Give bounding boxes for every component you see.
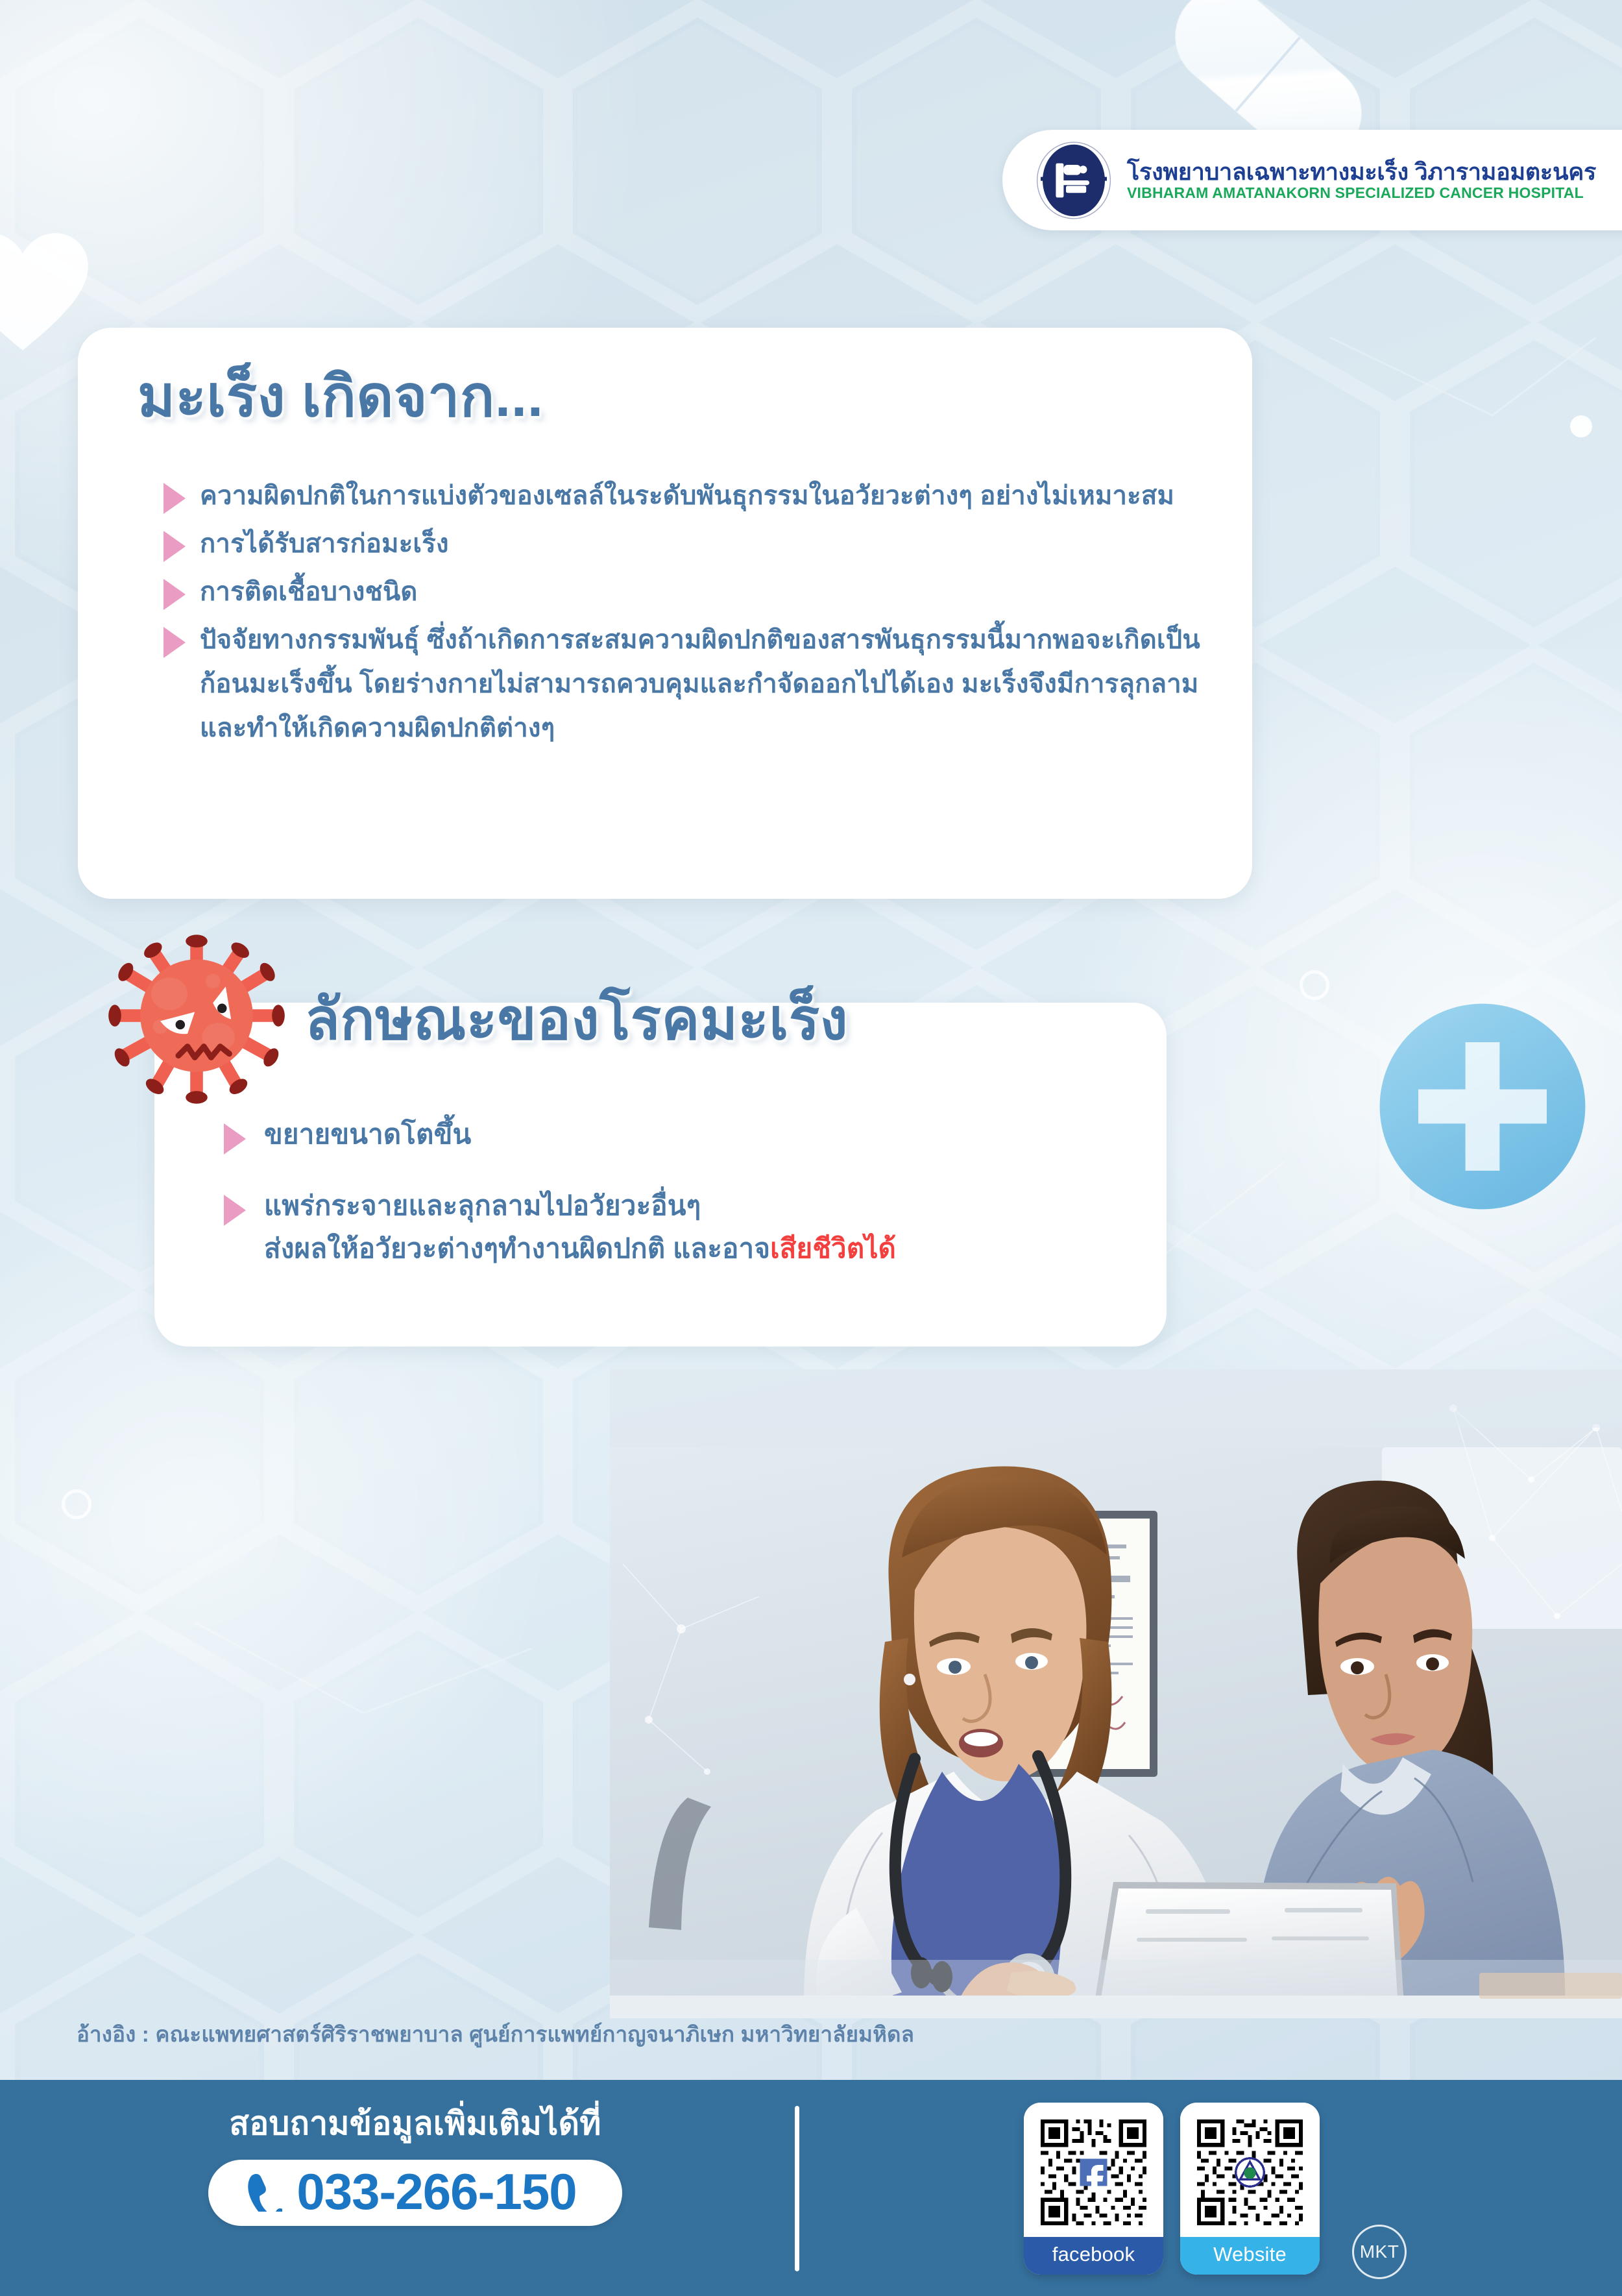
features-bullet-list: ขยายขนาดโตขึ้น แพร่กระจายและลุกลามไปอวัย… — [224, 1113, 1132, 1299]
bullet-text: การได้รับสารก่อมะเร็ง — [200, 522, 449, 566]
list-item: แพร่กระจายและลุกลามไปอวัยวะอื่นๆ ส่งผลให… — [224, 1184, 1132, 1270]
doctor-patient-photo — [610, 1369, 1622, 2018]
list-item: ความผิดปกติในการแบ่งตัวของเซลล์ในระดับพั… — [163, 474, 1228, 518]
triangle-bullet-icon — [163, 579, 186, 610]
phone-number: 033-266-150 — [297, 2166, 576, 2217]
list-item: ขยายขนาดโตขึ้น — [224, 1113, 1132, 1156]
bullet-text: การติดเชื้อบางชนิด — [200, 570, 418, 614]
triangle-bullet-icon — [163, 627, 186, 658]
mkt-badge: MKT — [1352, 2225, 1407, 2279]
causes-bullet-list: ความผิดปกติในการแบ่งตัวของเซลล์ในระดับพั… — [163, 474, 1228, 754]
brand-name-thai: โรงพยาบาลเฉพาะทางมะเร็ง วิภารามอมตะนคร — [1127, 160, 1596, 184]
brand-name-english: VIBHARAM AMATANAKORN SPECIALIZED CANCER … — [1127, 185, 1596, 201]
phone-button[interactable]: 033-266-150 — [208, 2160, 622, 2226]
triangle-bullet-icon — [224, 1123, 246, 1154]
qr-label-facebook: facebook — [1024, 2237, 1163, 2275]
bullet-text: ความผิดปกติในการแบ่งตัวของเซลล์ในระดับพั… — [200, 474, 1174, 518]
node-ring-icon — [1300, 970, 1329, 1000]
qr-code-facebook-icon — [1024, 2103, 1163, 2237]
bullet-subtext-highlight: เสียชีวิตได้ — [770, 1233, 896, 1264]
triangle-bullet-icon — [163, 531, 186, 562]
qr-code-website-icon — [1180, 2103, 1320, 2237]
bullet-text: ปัจจัยทางกรรมพันธุ์ ซึ่งถ้าเกิดการสะสมคว… — [200, 618, 1228, 750]
heart-icon — [0, 230, 91, 354]
list-item: ปัจจัยทางกรรมพันธุ์ ซึ่งถ้าเกิดการสะสมคว… — [163, 618, 1228, 750]
poster-root: โรงพยาบาลเฉพาะทางมะเร็ง วิภารามอมตะนคร V… — [0, 0, 1622, 2296]
list-item: การติดเชื้อบางชนิด — [163, 570, 1228, 614]
footer-divider — [795, 2106, 799, 2271]
causes-heading: มะเร็ง เกิดจาก... — [138, 350, 544, 441]
angry-virus-icon — [106, 925, 287, 1113]
bullet-subtext: ส่งผลให้อวัยวะต่างๆทำงานผิดปกติ และอาจ — [264, 1233, 770, 1264]
contact-label: สอบถามข้อมูลเพิ่มเติมได้ที่ — [229, 2098, 601, 2149]
node-dot-icon — [1570, 415, 1592, 437]
bullet-text: แพร่กระจายและลุกลามไปอวัยวะอื่นๆ — [264, 1190, 701, 1221]
qr-label-website: Website — [1180, 2237, 1320, 2275]
reference-text: อ้างอิง : คณะแพทยศาสตร์ศิริราชพยาบาล ศูน… — [77, 2017, 914, 2051]
phone-handset-icon — [242, 2171, 282, 2212]
radiotherapy-machine-icon — [1035, 141, 1113, 219]
list-item: การได้รับสารก่อมะเร็ง — [163, 522, 1228, 566]
qr-code-group: facebook — [1024, 2103, 1320, 2275]
triangle-bullet-icon — [224, 1195, 246, 1226]
features-heading: ลักษณะของโรคมะเร็ง — [305, 973, 848, 1064]
triangle-bullet-icon — [163, 483, 186, 514]
brand-header: โรงพยาบาลเฉพาะทางมะเร็ง วิภารามอมตะนคร V… — [1002, 130, 1622, 230]
contact-block: สอบถามข้อมูลเพิ่มเติมได้ที่ 033-266-150 — [52, 2098, 779, 2226]
qr-card-website[interactable]: Website — [1180, 2103, 1320, 2275]
bullet-text: ขยายขนาดโตขึ้น — [264, 1113, 471, 1156]
qr-card-facebook[interactable]: facebook — [1024, 2103, 1163, 2275]
node-ring-icon — [62, 1489, 91, 1519]
medical-cross-icon — [1375, 999, 1590, 1214]
